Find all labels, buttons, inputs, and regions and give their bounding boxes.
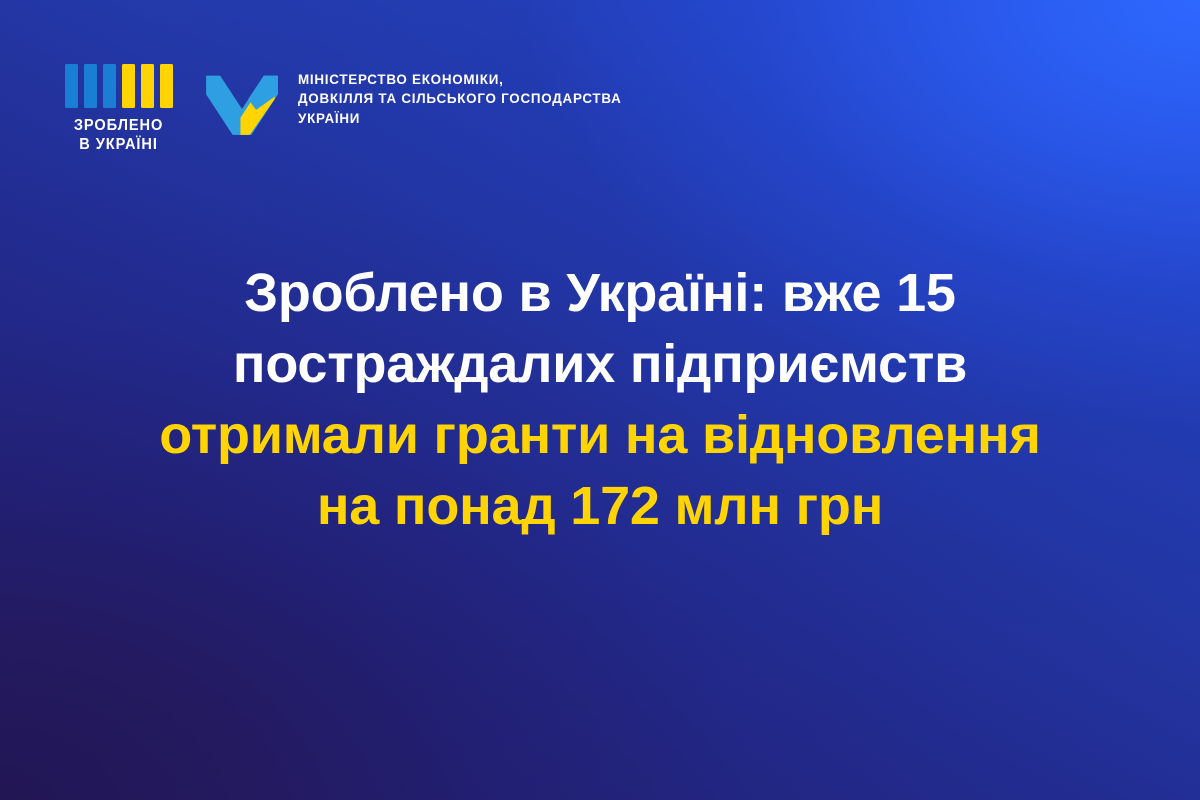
press-card: ЗРОБЛЕНО В УКРАЇНІ МІНІСТЕРСТВО ЕКОНОМІК…	[0, 0, 1200, 800]
flag-bar-blue-1	[65, 64, 78, 108]
headline-line-3: отримали гранти на відновлення	[60, 400, 1140, 471]
zrobleno-wordmark-line-1: ЗРОБЛЕНО	[74, 117, 163, 134]
zrobleno-wordmark: ЗРОБЛЕНО В УКРАЇНІ	[74, 117, 163, 155]
flag-bar-yellow-3	[160, 64, 173, 108]
headline-line-2: постраждалих підприємств	[60, 329, 1140, 400]
headline-line-4: на понад 172 млн грн	[60, 471, 1140, 542]
ministry-lockup: МІНІСТЕРСТВО ЕКОНОМІКИ, ДОВКІЛЛЯ ТА СІЛЬ…	[203, 58, 622, 138]
ministry-name-line-2: ДОВКІЛЛЯ ТА СІЛЬСЬКОГО ГОСПОДАРСТВА	[298, 89, 622, 108]
ministry-name-line-1: МІНІСТЕРСТВО ЕКОНОМІКИ,	[298, 70, 622, 89]
flag-bars-icon	[65, 64, 173, 108]
zrobleno-v-ukraini-logo: ЗРОБЛЕНО В УКРАЇНІ	[56, 58, 181, 155]
flag-bar-yellow-1	[122, 64, 135, 108]
ministry-name: МІНІСТЕРСТВО ЕКОНОМІКИ, ДОВКІЛЛЯ ТА СІЛЬ…	[298, 60, 622, 128]
headline-line-1: Зроблено в Україні: вже 15	[60, 258, 1140, 329]
flag-bar-yellow-2	[141, 64, 154, 108]
headline: Зроблено в Україні: вже 15 постраждалих …	[0, 258, 1200, 542]
flag-bar-blue-2	[84, 64, 97, 108]
flag-bar-blue-3	[103, 64, 116, 108]
zrobleno-wordmark-line-2: В УКРАЇНІ	[79, 136, 158, 153]
ministry-m-logo-icon	[203, 60, 281, 138]
logo-lockup: ЗРОБЛЕНО В УКРАЇНІ МІНІСТЕРСТВО ЕКОНОМІК…	[56, 58, 622, 155]
ministry-name-line-3: УКРАЇНИ	[298, 109, 622, 128]
